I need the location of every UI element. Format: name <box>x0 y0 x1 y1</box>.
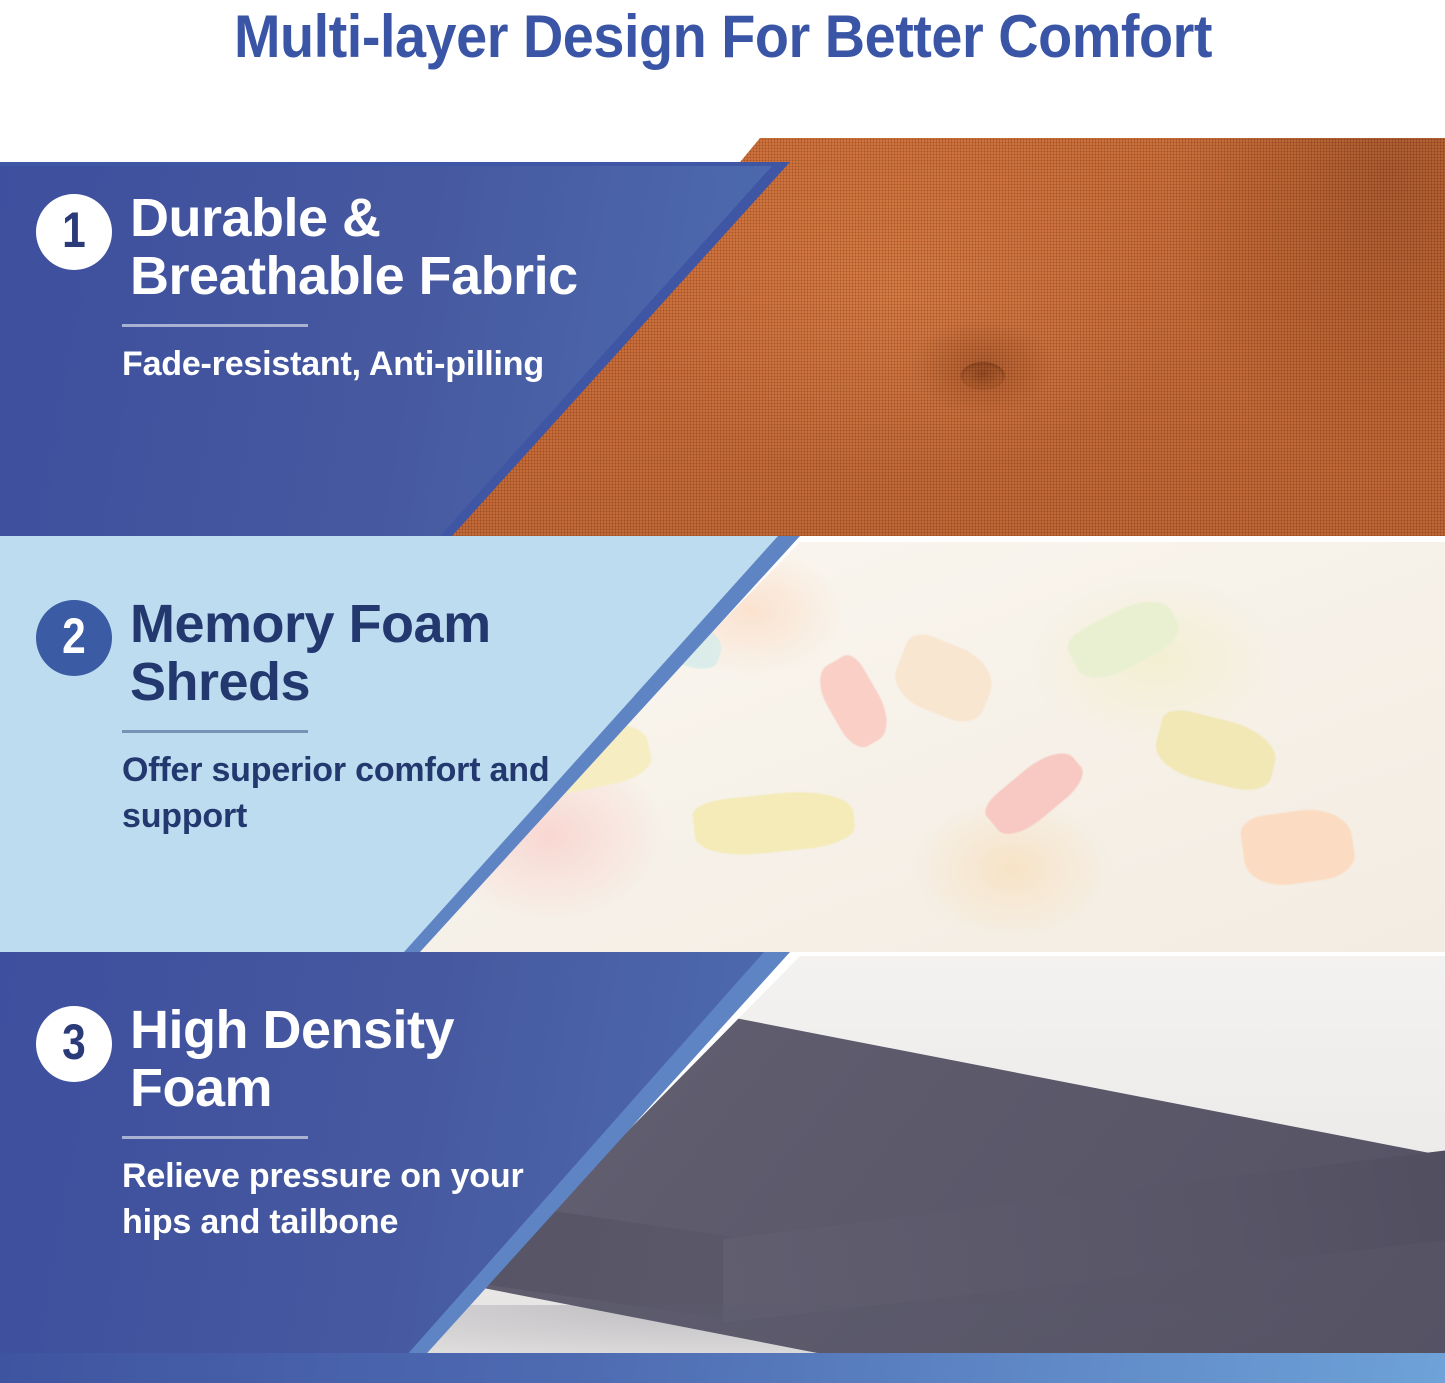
step-number-badge-3: 3 <box>36 1006 112 1082</box>
panel-3-heading: High Density Foam <box>130 1002 596 1118</box>
step-number-2: 2 <box>62 611 86 661</box>
page-title: Multi-layer Design For Better Comfort <box>197 2 1249 71</box>
feature-panel-3: 3 High Density Foam Relieve pressure on … <box>0 952 1445 1383</box>
panel-2-subtitle: Offer superior comfort and support <box>122 747 616 841</box>
panel-2-divider <box>122 730 308 733</box>
feature-panel-1: 1 Durable & Breathable Fabric Fade-resis… <box>0 132 1445 536</box>
step-number-badge-1: 1 <box>36 194 112 270</box>
feature-panel-2: 2 Memory Foam Shreds Offer superior comf… <box>0 536 1445 952</box>
panel-2-heading-row: 2 Memory Foam Shreds <box>36 596 616 712</box>
panel-1-content: 1 Durable & Breathable Fabric Fade-resis… <box>36 190 596 387</box>
step-number-3: 3 <box>62 1017 86 1067</box>
panel-1-heading: Durable & Breathable Fabric <box>130 190 596 306</box>
panel-3-heading-row: 3 High Density Foam <box>36 1002 596 1118</box>
panel-3-divider <box>122 1136 308 1139</box>
bottom-blue-strip <box>0 1353 1445 1383</box>
title-bar: Multi-layer Design For Better Comfort <box>0 0 1445 132</box>
step-number-badge-2: 2 <box>36 600 112 676</box>
page-title-text: Multi-layer Design For Better Comfort <box>234 2 1212 71</box>
panel-1-subtitle: Fade-resistant, Anti-pilling <box>122 341 596 388</box>
panel-2-content: 2 Memory Foam Shreds Offer superior comf… <box>36 596 616 840</box>
step-number-1: 1 <box>62 205 86 255</box>
panel-2-heading: Memory Foam Shreds <box>130 596 616 712</box>
panel-3-content: 3 High Density Foam Relieve pressure on … <box>36 1002 596 1246</box>
panel-1-heading-row: 1 Durable & Breathable Fabric <box>36 190 596 306</box>
panel-3-subtitle: Relieve pressure on your hips and tailbo… <box>122 1153 596 1247</box>
panel-1-divider <box>122 324 308 327</box>
